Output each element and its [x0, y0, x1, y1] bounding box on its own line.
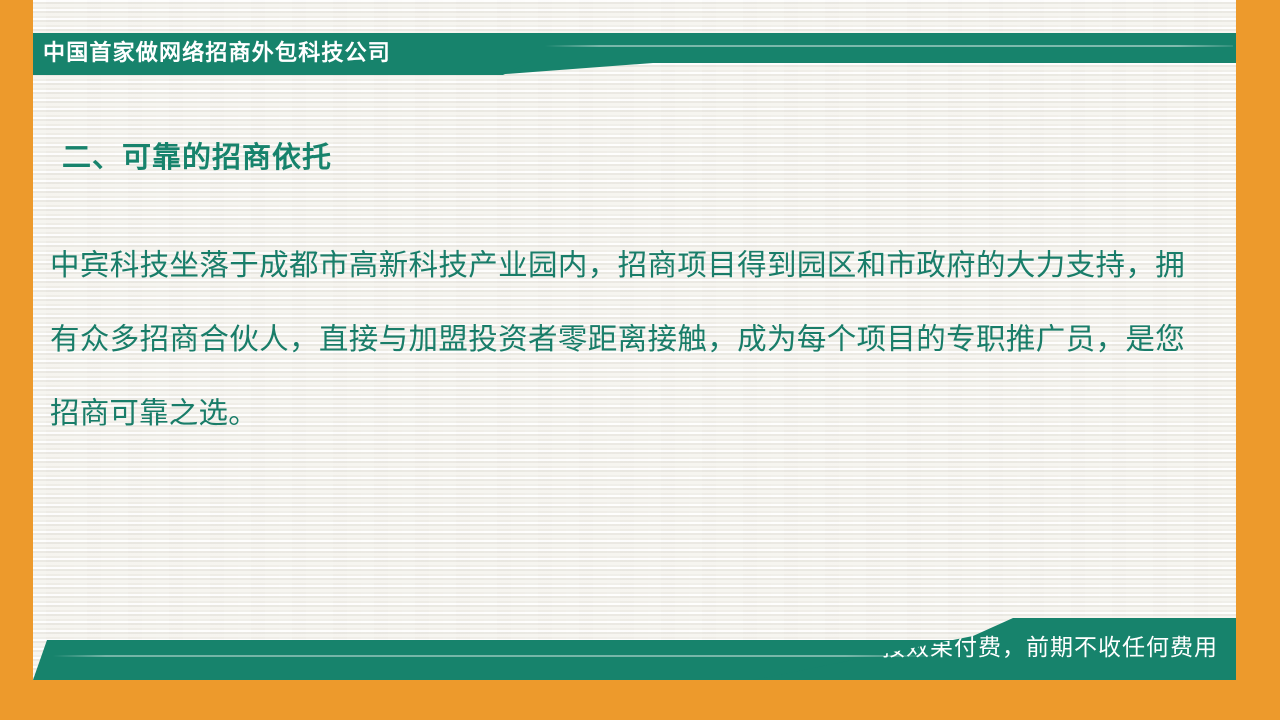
body-paragraph: 中宾科技坐落于成都市高新科技产业园内，招商项目得到园区和市政府的大力支持，拥有众… — [50, 228, 1185, 450]
header-banner-hairline — [545, 45, 1233, 47]
footer-banner-hairline — [53, 655, 933, 657]
page-title: 二、可靠的招商依托 — [62, 134, 332, 176]
header-banner-left-bar: 中国首家做网络招商外包科技公司 — [33, 33, 533, 75]
footer-banner-text: 按效果付费，前期不收任何费用 — [882, 624, 1218, 672]
footer-banner: 按效果付费，前期不收任何费用 — [33, 618, 1236, 680]
header-banner: 中国首家做网络招商外包科技公司 — [33, 33, 1236, 75]
header-banner-right-bar — [493, 33, 1236, 75]
presentation-slide: 中国首家做网络招商外包科技公司 二、可靠的招商依托 中宾科技坐落于成都市高新科技… — [0, 0, 1280, 720]
header-banner-title: 中国首家做网络招商外包科技公司 — [43, 33, 391, 75]
